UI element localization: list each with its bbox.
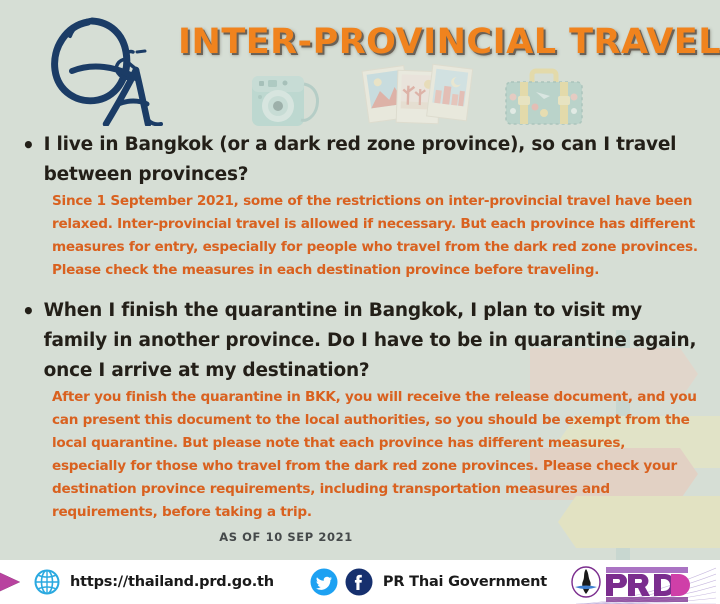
answer-text: After you finish the quarantine in BKK, …	[16, 386, 706, 524]
facebook-icon[interactable]	[345, 568, 373, 596]
qa-logo	[44, 8, 184, 126]
prd-logo	[566, 560, 716, 604]
as-of-date: AS OF 10 SEP 2021	[16, 530, 706, 544]
website-url[interactable]: https://thailand.prd.go.th	[70, 574, 274, 590]
poster-root: INTER-PROVINCIAL TRAVEL	[0, 0, 720, 604]
question-text: When I finish the quarantine in Bangkok,…	[44, 296, 706, 386]
page-title: INTER-PROVINCIAL TRAVEL	[178, 22, 698, 62]
qa-item: • I live in Bangkok (or a dark red zone …	[16, 130, 706, 282]
social-handle[interactable]: PR Thai Government	[383, 574, 547, 590]
question-row: • When I finish the quarantine in Bangko…	[16, 296, 706, 386]
suitcase-icon	[500, 66, 588, 128]
question-row: • I live in Bangkok (or a dark red zone …	[16, 130, 706, 190]
website-item[interactable]: https://thailand.prd.go.th	[26, 569, 274, 595]
qa-item: • When I finish the quarantine in Bangko…	[16, 296, 706, 524]
question-text: I live in Bangkok (or a dark red zone pr…	[44, 130, 706, 190]
answer-text: Since 1 September 2021, some of the rest…	[16, 190, 706, 282]
globe-icon	[34, 569, 60, 595]
camera-icon	[249, 66, 327, 128]
social-item[interactable]: PR Thai Government	[274, 568, 547, 596]
bullet-icon: •	[22, 296, 35, 326]
twitter-icon[interactable]	[310, 568, 338, 596]
polaroid-photos-icon	[358, 62, 478, 128]
footer-arrow-decoration	[0, 560, 26, 604]
footer-bar: https://thailand.prd.go.th PR Thai Gover…	[0, 560, 720, 604]
bullet-icon: •	[22, 130, 35, 160]
poster-header: INTER-PROVINCIAL TRAVEL	[0, 0, 720, 130]
poster-content: • I live in Bangkok (or a dark red zone …	[0, 130, 720, 544]
